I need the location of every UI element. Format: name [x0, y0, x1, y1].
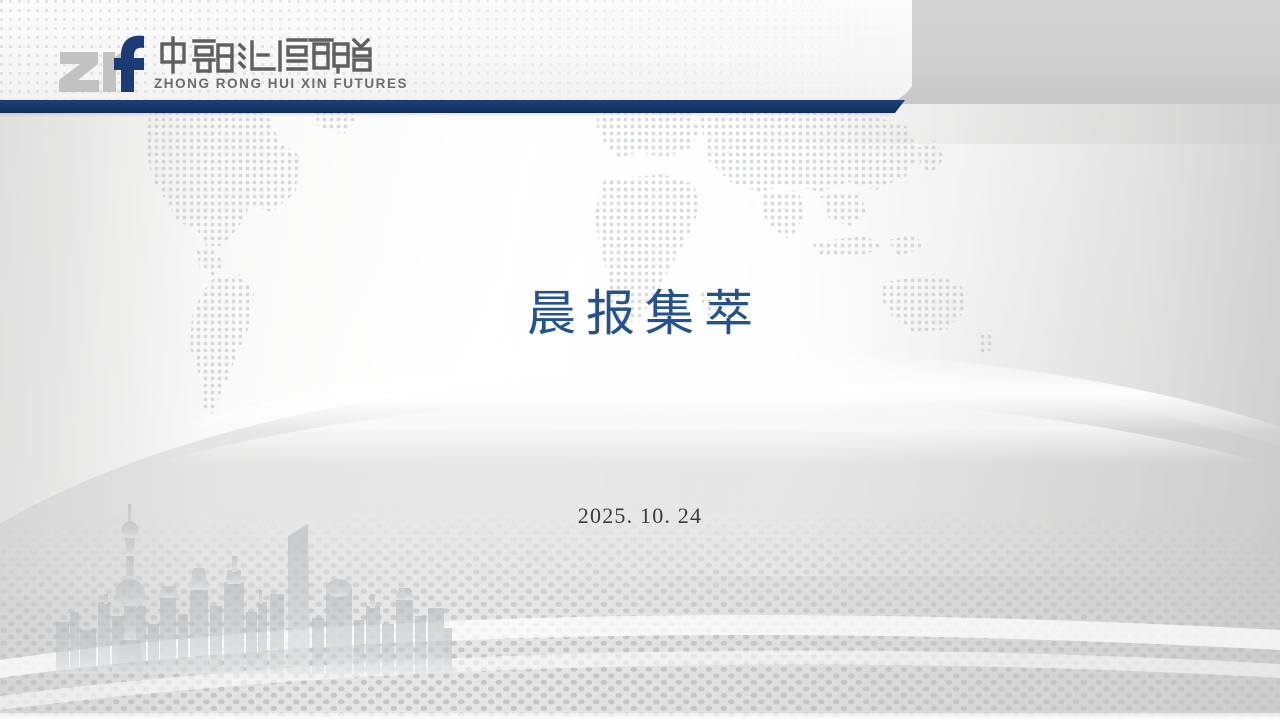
slide-header: ZHONG RONG HUI XIN FUTURES	[0, 0, 1280, 104]
slide-date: 2025. 10. 24	[0, 503, 1280, 529]
company-name-en: ZHONG RONG HUI XIN FUTURES	[154, 77, 408, 91]
slide-title: 晨报集萃	[0, 286, 1280, 342]
header-accent-rule-shadow	[0, 113, 900, 117]
company-name-cn-icon	[154, 36, 372, 74]
header-accent-rule	[0, 100, 912, 113]
company-logo: ZHONG RONG HUI XIN FUTURES	[58, 34, 408, 98]
logo-text-block: ZHONG RONG HUI XIN FUTURES	[154, 34, 408, 91]
presentation-slide: ZHONG RONG HUI XIN FUTURES 晨报集萃 2025. 10…	[0, 0, 1280, 720]
zrf-monogram-icon	[58, 34, 146, 96]
